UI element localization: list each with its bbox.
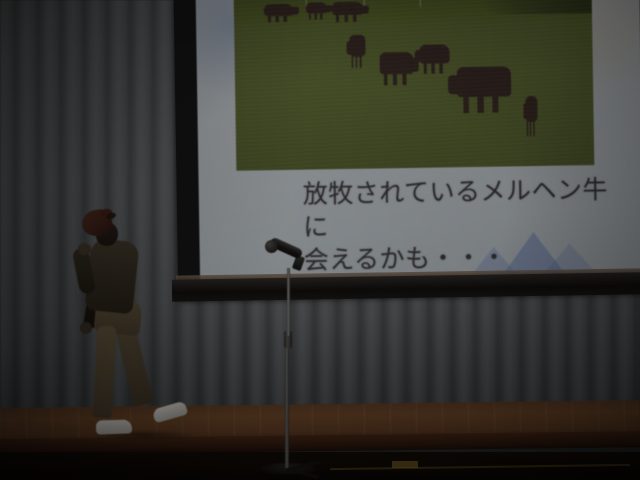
presentation-slide: 放牧されているメルヘン牛に 会えるかも・・・ — [196, 0, 640, 279]
slide-caption-line-1: 放牧されているメルヘン牛に — [303, 172, 634, 243]
performer-front-fist — [78, 243, 91, 255]
projection-screen-surface: 放牧されているメルヘン牛に 会えるかも・・・ — [174, 0, 640, 300]
floor-marker-block — [392, 461, 418, 468]
slide-pasture-photo — [234, 0, 595, 171]
mic-stand-upper-pole — [287, 268, 290, 336]
mic-stand-lower-pole — [285, 346, 289, 468]
microphone-grille — [265, 240, 278, 253]
performer-back-hand — [80, 322, 92, 334]
slide-caption: 放牧されているメルヘン牛に 会えるかも・・・ — [303, 172, 635, 276]
photo-grass-texture — [234, 0, 595, 171]
performer-front-shoe — [96, 419, 132, 434]
stage-presentation-photo: 放牧されているメルヘン牛に 会えるかも・・・ — [0, 0, 640, 480]
